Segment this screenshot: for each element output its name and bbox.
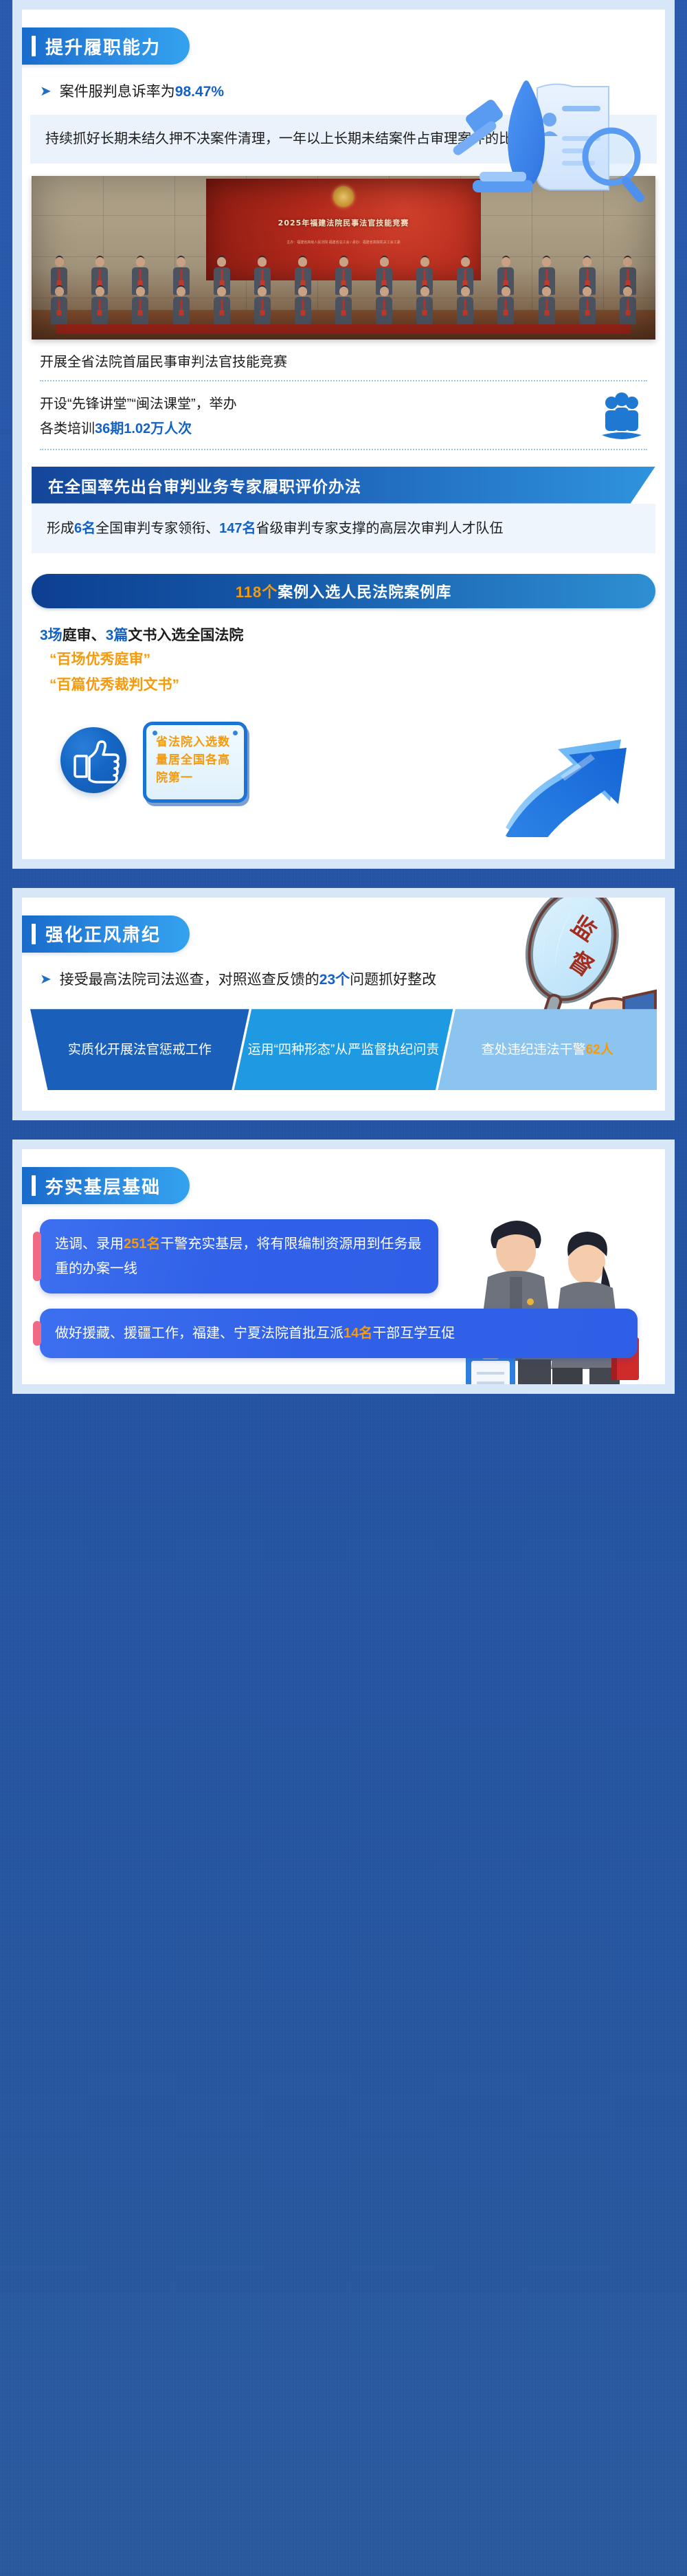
section-2-bullet: ➤ 接受最高法院司法巡查，对照巡查反馈的23个问题抓好整改	[22, 953, 665, 992]
section-card-2: 监 督 强化正风肃纪 ➤ 接受最高法院司法巡查，对照	[12, 888, 675, 1121]
section-3-inner: 夯实基层基础 选调、录用251名干警充实基层，将有限编制资源用到任务最重的办案一…	[22, 1149, 665, 1384]
sign-screw-left-icon	[153, 731, 157, 735]
section-1-bullet: ➤ 案件服判息诉率为98.47%	[22, 65, 665, 104]
highlight-quote-1: “百场优秀庭审”	[40, 647, 647, 673]
message-aid-programs: 做好援藏、援疆工作，福建、宁夏法院首批互派14名干部互学互促	[40, 1309, 638, 1358]
section-card-1: 提升履职能力	[12, 0, 675, 869]
heading-accent-bar	[32, 924, 36, 944]
thumbs-up-icon	[60, 727, 126, 793]
recruit-count: 251名	[124, 1236, 160, 1252]
message-recruitment: 选调、录用251名干警充实基层，将有限编制资源用到任务最重的办案一线	[40, 1219, 438, 1293]
inspection-issue-count: 23个	[319, 972, 350, 988]
section-2-title: 强化正风肃纪	[45, 921, 161, 946]
section-3-heading: 夯实基层基础	[22, 1167, 190, 1204]
ribbon-title: 在全国率先出台审判业务专家履职评价办法	[32, 474, 361, 497]
section-1-ribbon-body: 形成6名全国审判专家领衔、147名省级审判专家支撑的高层次审判人才队伍	[32, 504, 655, 553]
section-2-bullet-text: 接受最高法院司法巡查，对照巡查反馈的23个问题抓好整改	[60, 969, 436, 992]
section-1-training-row: 开设“先锋讲堂”“闽法课堂”，举办 各类培训36期1.02万人次	[22, 381, 665, 449]
case-pill-text: 118个案例入选人民法院案例库	[236, 580, 452, 602]
ranking-sign-text: 省法院入选数量居全国各高院第一	[156, 733, 237, 788]
training-text: 开设“先锋讲堂”“闽法课堂”，举办 各类培训36期1.02万人次	[40, 392, 587, 441]
divider-dotted-2	[40, 449, 647, 450]
column-supervision: 运用“四种形态”从严监督执纪问责	[234, 1009, 453, 1090]
section-1-highlight: 3场庭审、3篇文书入选全国法院 “百场优秀庭审” “百篇优秀裁判文书” 省法院入…	[22, 608, 665, 833]
sign-screw-right-icon	[233, 731, 238, 735]
infographic-page: 提升履职能力	[0, 0, 687, 1394]
section-1-heading: 提升履职能力	[22, 27, 190, 65]
expert-count-provincial: 147名	[219, 521, 256, 536]
section-2-inner: 监 督 强化正风肃纪 ➤ 接受最高法院司法巡查，对照	[22, 898, 665, 1111]
section-3-title: 夯实基层基础	[45, 1173, 161, 1199]
bullet-arrow-icon: ➤	[40, 969, 52, 990]
highlight-graphic: 省法院入选数量居全国各高院第一	[40, 702, 647, 833]
section-2-columns: 实质化开展法官惩戒工作 运用“四种形态”从严监督执纪问责 查处违纪违法干警62人	[30, 1009, 657, 1090]
section-1-case-pill: 118个案例入选人民法院案例库	[32, 574, 655, 608]
column-discipline: 实质化开展法官惩戒工作	[30, 1009, 249, 1090]
section-2-heading: 强化正风肃纪	[22, 915, 190, 953]
expert-count-national: 6名	[74, 521, 95, 536]
column-investigation: 查处违纪违法干警62人	[438, 1009, 657, 1090]
section-1-ribbon: 在全国率先出台审判业务专家履职评价办法	[32, 467, 655, 504]
section-card-3: 夯实基层基础 选调、录用251名干警充实基层，将有限编制资源用到任务最重的办案一…	[12, 1140, 675, 1394]
growth-arrow-icon	[499, 679, 629, 837]
section-1-title: 提升履职能力	[45, 34, 161, 59]
investigated-count: 62人	[586, 1041, 613, 1060]
highlight-line-1: 3场庭审、3篇文书入选全国法院	[40, 623, 647, 648]
heading-accent-bar	[32, 1175, 36, 1196]
section-1-bullet-text: 案件服判息诉率为98.47%	[60, 81, 224, 104]
bullet-value: 98.47%	[175, 84, 224, 100]
section-1-inner: 提升履职能力	[22, 10, 665, 859]
training-value: 36期1.02万人次	[95, 421, 192, 436]
people-group-icon	[596, 391, 647, 442]
bullet-arrow-icon: ➤	[40, 81, 52, 102]
heading-accent-bar	[32, 36, 36, 56]
case-count: 118个	[236, 584, 278, 601]
exchange-count: 14名	[343, 1326, 372, 1341]
section-1-photo-caption: 开展全省法院首届民事审判法官技能竞赛	[22, 340, 665, 380]
ranking-sign: 省法院入选数量居全国各高院第一	[143, 722, 247, 803]
